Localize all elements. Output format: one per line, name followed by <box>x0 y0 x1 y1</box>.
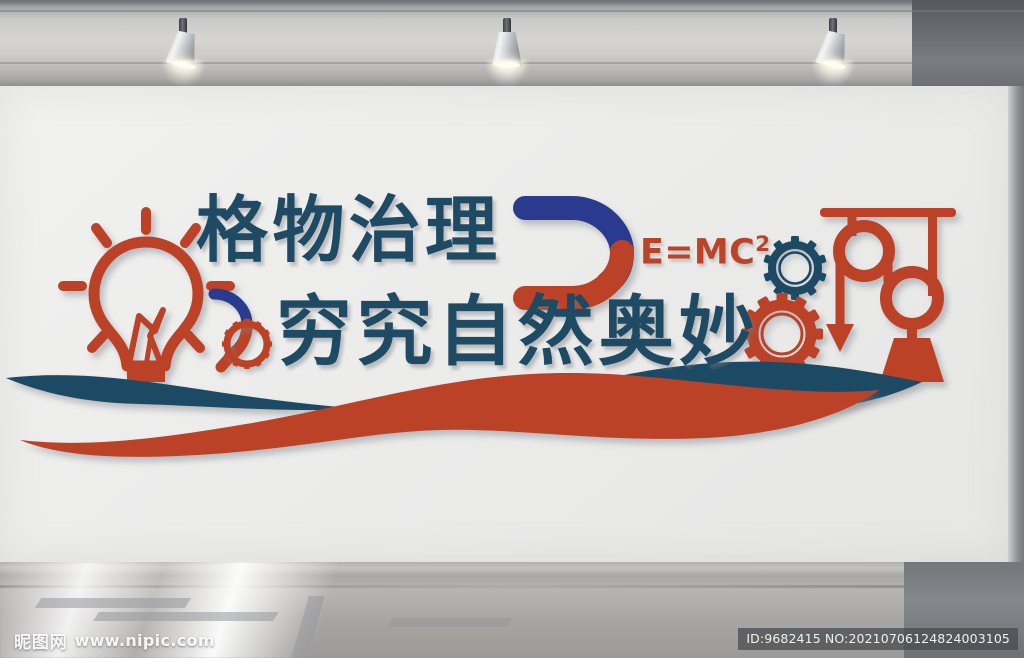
nipic-brand-url: www.nipic.com <box>75 631 215 650</box>
track-spotlight-center <box>484 18 530 80</box>
gear-small-blue-icon <box>763 236 826 300</box>
formula-exponent: 2 <box>755 232 770 257</box>
ceiling-corner-right <box>912 0 1024 86</box>
headline-line-2: 穷究自然奥妙 <box>276 292 759 372</box>
nipic-watermark: 昵图网 www.nipic.com <box>14 628 215 653</box>
spotlight-lens-icon <box>496 62 520 68</box>
headline-line-1: 格物治理 <box>196 192 501 268</box>
image-id-watermark: ID:9682415 NO:20210706124824003105 <box>738 628 1018 650</box>
formula-base: E=MC <box>640 233 755 273</box>
track-spotlight-left <box>160 18 206 80</box>
pulley-system-icon <box>820 208 956 382</box>
horseshoe-magnet-icon <box>525 208 622 298</box>
floor-window-shadow <box>387 618 512 627</box>
ceiling-seam-upper <box>0 10 1024 12</box>
formula-emc2: E=MC2 <box>640 232 771 273</box>
track-spotlight-right <box>810 18 856 80</box>
floor-window-shadow <box>93 612 279 621</box>
screenshot-stage: 格物治理 穷究自然奥妙 E=MC2 昵图网 www.nipic.com ID:9… <box>0 0 1024 658</box>
nipic-brand-cn: 昵图网 <box>14 628 68 653</box>
floor-window-shadow <box>35 598 192 608</box>
